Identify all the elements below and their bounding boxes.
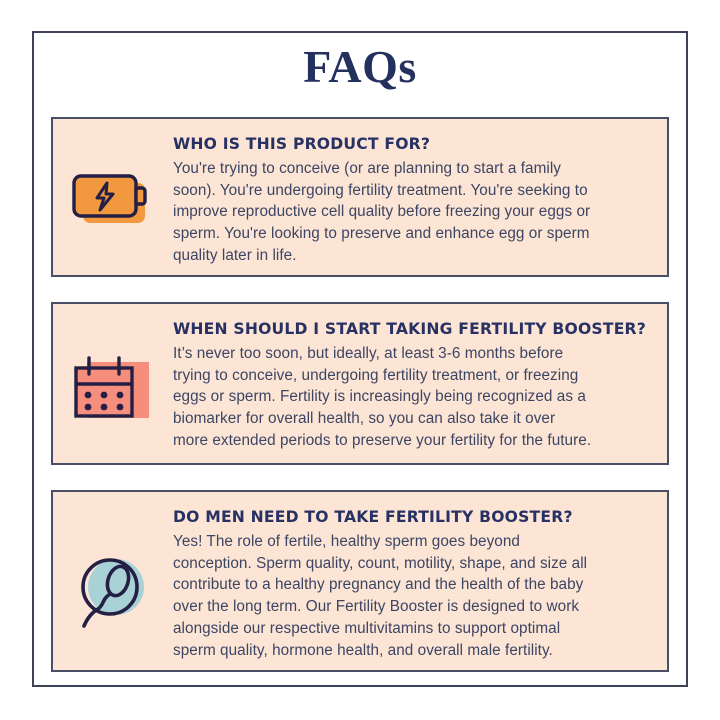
sperm-icon: [68, 549, 158, 635]
faq-answer-line: sperm. You're looking to preserve and en…: [173, 223, 651, 245]
faq-answer: Yes! The role of fertile, healthy sperm …: [173, 531, 651, 661]
faq-answer-line: quality later in life.: [173, 245, 651, 267]
faq-answer-line: conception. Sperm quality, count, motili…: [173, 553, 651, 575]
faq-item[interactable]: WHO IS THIS PRODUCT FOR? You're trying t…: [51, 117, 669, 277]
faq-text-cell: WHEN SHOULD I START TAKING FERTILITY BOO…: [173, 304, 667, 462]
faq-answer-line: soon). You're undergoing fertility treat…: [173, 180, 651, 202]
faq-item[interactable]: DO MEN NEED TO TAKE FERTILITY BOOSTER? Y…: [51, 490, 669, 672]
faq-answer: You're trying to conceive (or are planni…: [173, 158, 651, 267]
page-title: FAQs: [0, 44, 720, 90]
faq-question: WHEN SHOULD I START TAKING FERTILITY BOO…: [173, 321, 651, 339]
faq-answer-line: over the long term. Our Fertility Booste…: [173, 596, 651, 618]
faq-page: FAQs WHO IS THIS PRODUCT FOR? You're try…: [0, 0, 720, 720]
faq-answer-line: It’s never too soon, but ideally, at lea…: [173, 343, 651, 365]
faq-answer-line: more extended periods to preserve your f…: [173, 430, 651, 452]
faq-answer: It’s never too soon, but ideally, at lea…: [173, 343, 651, 452]
faq-list: WHO IS THIS PRODUCT FOR? You're trying t…: [51, 117, 669, 672]
faq-text-cell: WHO IS THIS PRODUCT FOR? You're trying t…: [173, 119, 667, 277]
battery-bolt-icon: [70, 171, 156, 229]
faq-answer-line: Yes! The role of fertile, healthy sperm …: [173, 531, 651, 553]
faq-answer-line: biomarker for overall health, so you can…: [173, 408, 651, 430]
faq-answer-line: contribute to a healthy pregnancy and th…: [173, 574, 651, 596]
faq-answer-line: eggs or sperm. Fertility is increasingly…: [173, 386, 651, 408]
faq-icon-cell: [53, 119, 173, 275]
faq-answer-line: sperm quality, hormone health, and overa…: [173, 640, 651, 662]
faq-icon-cell: [53, 304, 173, 463]
faq-question: WHO IS THIS PRODUCT FOR?: [173, 136, 651, 154]
faq-question: DO MEN NEED TO TAKE FERTILITY BOOSTER?: [173, 509, 651, 527]
faq-icon-cell: [53, 492, 173, 670]
faq-answer-line: trying to conceive, undergoing fertility…: [173, 365, 651, 387]
calendar-icon: [70, 354, 156, 428]
faq-text-cell: DO MEN NEED TO TAKE FERTILITY BOOSTER? Y…: [173, 492, 667, 671]
faq-answer-line: improve reproductive cell quality before…: [173, 201, 651, 223]
faq-item[interactable]: WHEN SHOULD I START TAKING FERTILITY BOO…: [51, 302, 669, 465]
faq-answer-line: You're trying to conceive (or are planni…: [173, 158, 651, 180]
faq-answer-line: alongside our respective multivitamins t…: [173, 618, 651, 640]
